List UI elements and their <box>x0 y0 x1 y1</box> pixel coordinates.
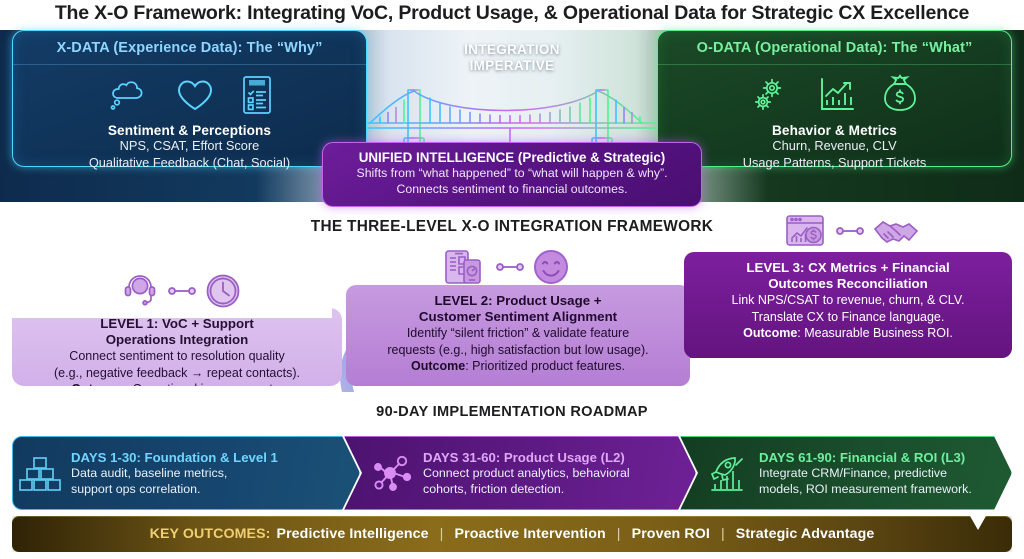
roadmap-segment-days-61-90: DAYS 61-90: Financial & ROI (L3) Integra… <box>680 436 1012 510</box>
level-3-heading-2: Outcomes Reconciliation <box>698 276 998 292</box>
page-title: The X-O Framework: Integrating VoC, Prod… <box>0 2 1024 25</box>
network-nodes-icon <box>365 453 419 493</box>
roadmap-row: DAYS 1-30: Foundation & Level 1 Data aud… <box>12 436 1012 510</box>
x-data-icon-row <box>13 71 366 119</box>
roadmap-1-heading: DAYS 1-30: Foundation & Level 1 <box>71 449 278 466</box>
level-2-outcome-text: : Prioritized product features. <box>465 359 625 373</box>
link-connector-icon <box>496 260 524 279</box>
level-3-heading-1: LEVEL 3: CX Metrics + Financial <box>698 260 998 276</box>
money-bag-icon <box>880 74 920 116</box>
level-1-icon-row <box>120 272 242 315</box>
o-data-header: O-DATA (Operational Data): The “What” <box>658 31 1011 65</box>
o-data-icon-row <box>658 71 1011 119</box>
level-1-outcome: Outcome: Operational improvements. <box>26 381 328 398</box>
link-connector-icon <box>836 224 864 243</box>
key-outcomes-label: KEY OUTCOMES: <box>150 526 271 542</box>
unified-line2: Connects sentiment to financial outcomes… <box>333 181 691 197</box>
separator-3: | <box>714 526 732 542</box>
x-data-line1: NPS, CSAT, Effort Score <box>13 138 366 155</box>
key-outcome-3: Proven ROI <box>632 526 710 542</box>
key-outcome-4: Strategic Advantage <box>736 526 875 542</box>
bar-chart-growth-icon <box>816 74 858 116</box>
building-blocks-icon <box>13 453 67 493</box>
integration-line2: IMPERATIVE <box>398 58 626 74</box>
roadmap-1-body-2: support ops correlation. <box>71 482 278 498</box>
rocket-growth-icon <box>701 453 755 493</box>
level-1-outcome-label: Outcome <box>71 382 125 396</box>
clock-icon <box>204 272 242 315</box>
level-2-body-1: Identify “silent friction” & validate fe… <box>360 325 676 342</box>
separator-1: | <box>433 526 451 542</box>
integration-line1: INTEGRATION <box>398 42 626 58</box>
thought-cloud-icon <box>106 75 150 115</box>
o-data-panel: O-DATA (Operational Data): The “What” <box>657 30 1012 167</box>
revenue-dashboard-icon <box>784 212 828 255</box>
level-1-body-2: (e.g., negative feedback → repeat contac… <box>26 365 328 382</box>
roadmap-title: 90-DAY IMPLEMENTATION ROADMAP <box>0 404 1024 420</box>
x-data-line2: Qualitative Feedback (Chat, Social) <box>13 155 366 172</box>
level-1-outcome-text: : Operational improvements. <box>126 382 283 396</box>
level-1-card: LEVEL 1: VoC + Support Operations Integr… <box>12 308 342 386</box>
roadmap-3-body-2: models, ROI measurement framework. <box>759 482 972 498</box>
unified-intelligence-card: UNIFIED INTELLIGENCE (Predictive & Strat… <box>322 142 702 207</box>
level-3-card: LEVEL 3: CX Metrics + Financial Outcomes… <box>684 252 1012 358</box>
gears-icon <box>750 74 794 116</box>
x-data-panel: X-DATA (Experience Data): The “Why” <box>12 30 367 167</box>
level-1-body-1: Connect sentiment to resolution quality <box>26 348 328 365</box>
unified-line1: Shifts from “what happened” to “what wil… <box>333 165 691 181</box>
roadmap-3-body-1: Integrate CRM/Finance, predictive <box>759 466 972 482</box>
roadmap-segment-days-31-60: DAYS 31-60: Product Usage (L2) Connect p… <box>344 436 696 510</box>
level-3-outcome: Outcome: Measurable Business ROI. <box>698 325 998 342</box>
o-data-body: Behavior & Metrics Churn, Revenue, CLV U… <box>658 123 1011 172</box>
level-2-heading-1: LEVEL 2: Product Usage + <box>360 293 676 309</box>
handshake-icon <box>872 214 920 253</box>
level-3-outcome-label: Outcome <box>743 326 797 340</box>
level-1-heading-2: Operations Integration <box>26 332 328 348</box>
x-data-header: X-DATA (Experience Data): The “Why” <box>13 31 366 65</box>
roadmap-1-body-1: Data audit, baseline metrics, <box>71 466 278 482</box>
o-data-line1: Churn, Revenue, CLV <box>658 138 1011 155</box>
roadmap-3-text: DAYS 61-90: Financial & ROI (L3) Integra… <box>755 449 972 498</box>
level-3-body-1: Link NPS/CSAT to revenue, churn, & CLV. <box>698 292 998 309</box>
level-1-heading-1: LEVEL 1: VoC + Support <box>26 316 328 332</box>
level-2-body-2: requests (e.g., high satisfaction but lo… <box>360 342 676 359</box>
roadmap-3-heading: DAYS 61-90: Financial & ROI (L3) <box>759 449 972 466</box>
o-data-lead: Behavior & Metrics <box>658 123 1011 138</box>
roadmap-2-heading: DAYS 31-60: Product Usage (L2) <box>423 449 630 466</box>
key-outcomes-items: Predictive Intelligence | Proactive Inte… <box>271 526 875 542</box>
key-outcome-2: Proactive Intervention <box>455 526 606 542</box>
level-2-outcome: Outcome: Prioritized product features. <box>360 358 676 375</box>
separator-2: | <box>610 526 628 542</box>
level-3-icon-row <box>784 212 920 255</box>
key-outcomes-bar: KEY OUTCOMES: Predictive Intelligence | … <box>12 516 1012 552</box>
level-3-body-2: Translate CX to Finance language. <box>698 309 998 326</box>
infographic-canvas: The X-O Framework: Integrating VoC, Prod… <box>0 0 1024 559</box>
heart-icon <box>174 76 216 114</box>
roadmap-2-body-2: cohorts, friction detection. <box>423 482 630 498</box>
integration-imperative-heading: INTEGRATION IMPERATIVE <box>398 42 626 75</box>
o-data-line2: Usage Patterns, Support Tickets <box>658 155 1011 172</box>
roadmap-2-body-1: Connect product analytics, behavioral <box>423 466 630 482</box>
unified-heading: UNIFIED INTELLIGENCE (Predictive & Strat… <box>333 150 691 165</box>
survey-checklist-icon <box>240 74 274 116</box>
x-data-body: Sentiment & Perceptions NPS, CSAT, Effor… <box>13 123 366 172</box>
level-2-heading-2: Customer Sentiment Alignment <box>360 309 676 325</box>
level-3-outcome-text: : Measurable Business ROI. <box>797 326 953 340</box>
level-2-card: LEVEL 2: Product Usage + Customer Sentim… <box>346 285 690 386</box>
key-outcome-1: Predictive Intelligence <box>271 526 429 542</box>
x-data-lead: Sentiment & Perceptions <box>13 123 366 138</box>
roadmap-2-text: DAYS 31-60: Product Usage (L2) Connect p… <box>419 449 630 498</box>
roadmap-segment-days-1-30: DAYS 1-30: Foundation & Level 1 Data aud… <box>12 436 360 510</box>
link-connector-icon <box>168 284 196 303</box>
roadmap-1-text: DAYS 1-30: Foundation & Level 1 Data aud… <box>67 449 278 498</box>
level-2-outcome-label: Outcome <box>411 359 465 373</box>
headset-agent-icon <box>120 273 160 314</box>
